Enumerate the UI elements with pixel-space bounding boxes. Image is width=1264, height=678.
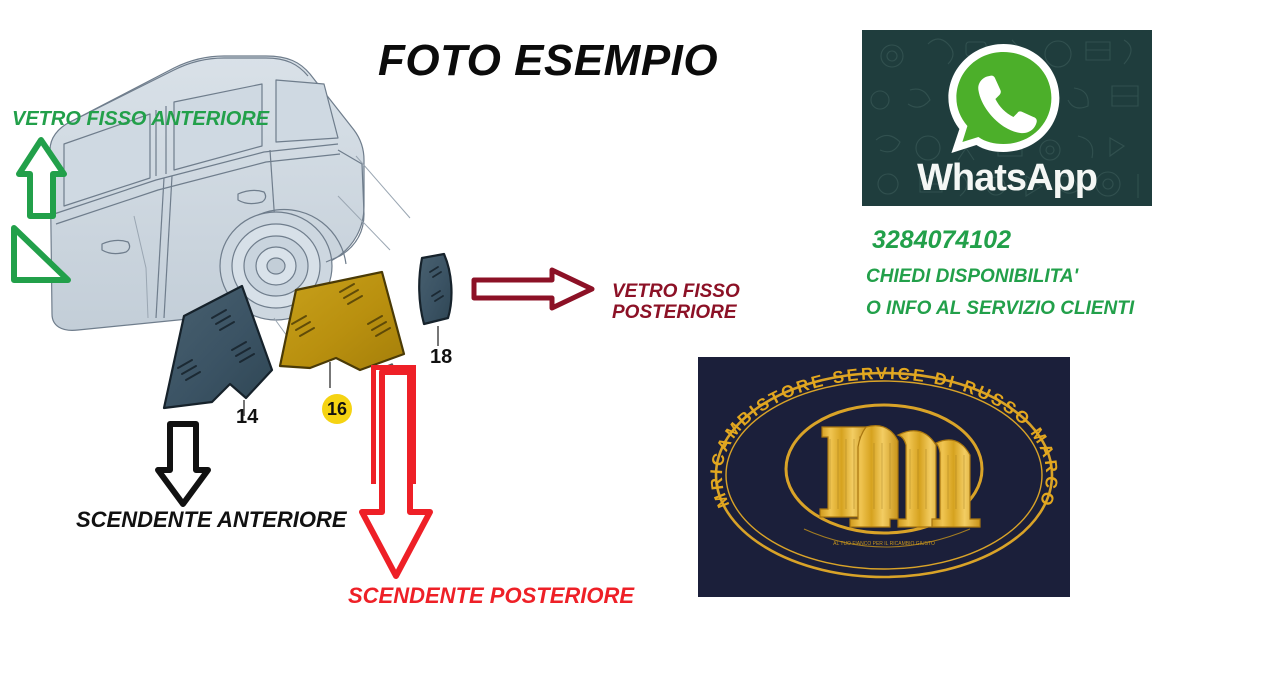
part-number-16-badge: 16 — [322, 394, 352, 424]
label-scendente-anteriore: SCENDENTE ANTERIORE — [76, 508, 347, 533]
exploded-glass-parts — [120, 250, 480, 470]
label-scendente-posteriore: SCENDENTE POSTERIORE — [348, 584, 634, 609]
label-vetro-fisso-anteriore: VETRO FISSO ANTERIORE — [12, 108, 269, 130]
whatsapp-banner: WhatsApp — [862, 30, 1152, 206]
part-number-14: 14 — [236, 406, 258, 429]
whatsapp-wordmark: WhatsApp — [862, 157, 1152, 200]
part-number-18: 18 — [430, 346, 452, 369]
part-17-shape — [280, 272, 404, 370]
part-17-highlight-box — [371, 365, 416, 484]
part-14-shape — [164, 286, 272, 408]
shop-logo-banner: MRICAMBISTORE SERVICE DI RUSSO MARCO AL … — [698, 357, 1070, 597]
contact-line-1: CHIEDI DISPONIBILITA' — [866, 266, 1078, 288]
phone-number[interactable]: 3284074102 — [872, 226, 1011, 255]
label-vetro-fisso-posteriore: VETRO FISSO POSTERIORE — [612, 281, 740, 324]
page-title: FOTO ESEMPIO — [378, 36, 718, 86]
part-18-shape — [419, 254, 451, 324]
right-arrow-darkred — [468, 266, 598, 312]
label-vetro-fisso-posteriore-line2: POSTERIORE — [612, 302, 740, 323]
part-number-16: 16 — [327, 399, 347, 420]
label-vetro-fisso-posteriore-line1: VETRO FISSO — [612, 281, 740, 302]
contact-line-2: O INFO AL SERVIZIO CLIENTI — [866, 298, 1134, 320]
part-number-17: 17 — [379, 396, 400, 418]
shop-logo-strapline: AL TUO FIANCO PER IL RICAMBIO GIUSTO — [833, 541, 935, 547]
shop-logo-graphic: MRICAMBISTORE SERVICE DI RUSSO MARCO AL … — [698, 357, 1070, 597]
whatsapp-icon — [939, 38, 1069, 164]
